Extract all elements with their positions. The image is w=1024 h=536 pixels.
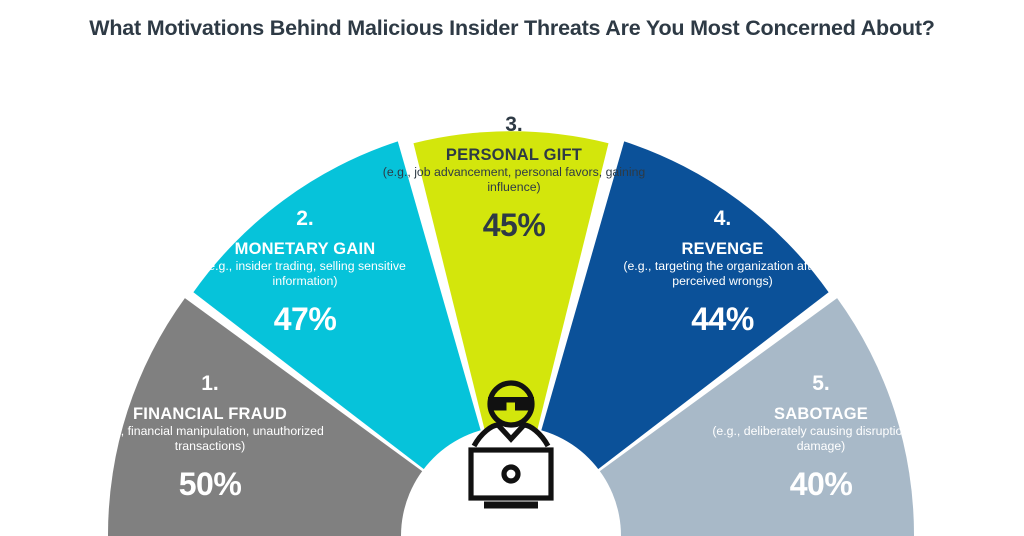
insider-shoulders-icon xyxy=(474,425,548,446)
insider-mask-icon xyxy=(488,397,534,411)
laptop-webcam-icon xyxy=(504,467,518,481)
masked-insider-at-laptop-icon xyxy=(455,380,567,510)
laptop-screen-icon xyxy=(471,450,551,498)
